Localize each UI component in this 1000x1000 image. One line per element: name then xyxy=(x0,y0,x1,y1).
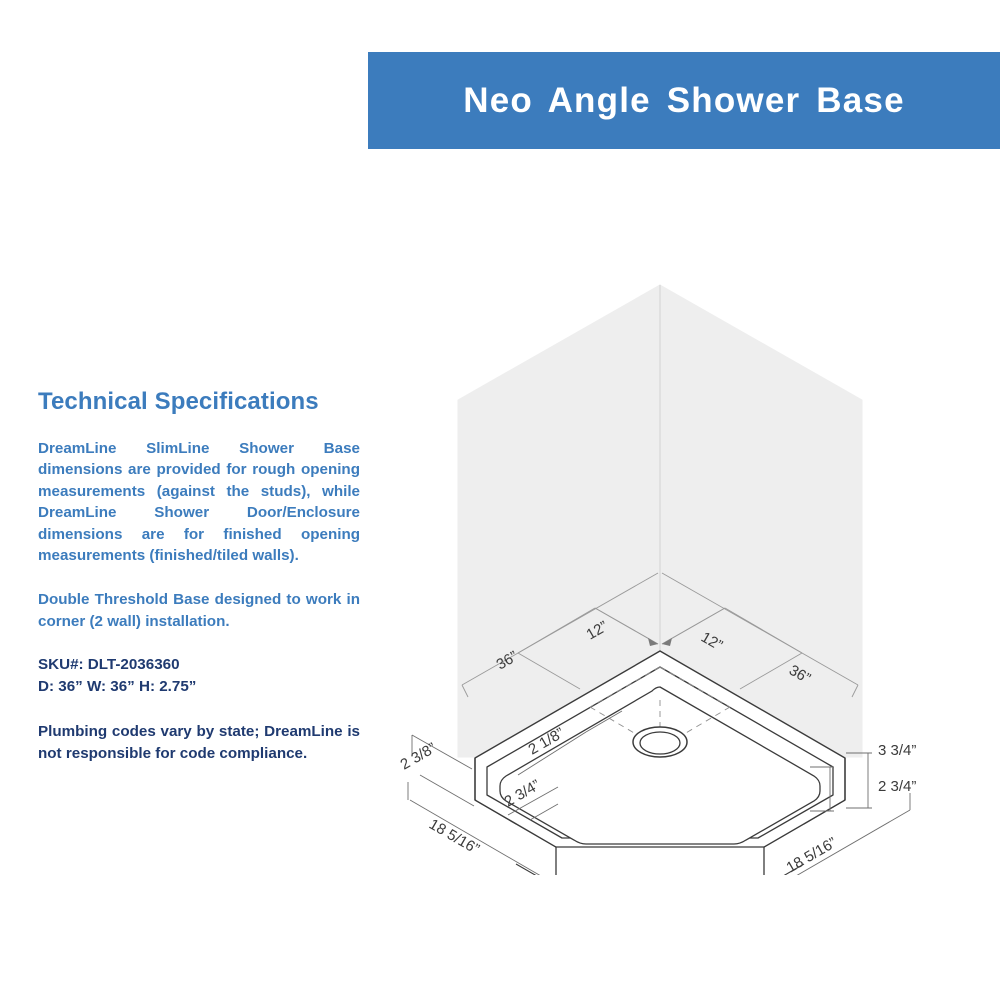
dimension-label-2-3-4-height: 2 3/4” xyxy=(878,778,916,795)
page-title: Neo Angle Shower Base xyxy=(463,81,905,121)
header-banner: Neo Angle Shower Base xyxy=(368,52,1000,149)
spec-paragraph-dimensions: DreamLine SlimLine Shower Base dimension… xyxy=(38,438,360,567)
sku-dimensions: D: 36” W: 36” H: 2.75” xyxy=(38,678,196,695)
label-threshold-left: 2 3/8” xyxy=(398,740,440,774)
dimension-label-18-5-16-right: 18 5/16” xyxy=(784,834,840,875)
label-front-right-run: 18 5/16” xyxy=(784,834,840,875)
spec-sku-block: SKU#: DLT-2036360 D: 36” W: 36” H: 2.75” xyxy=(38,654,360,697)
spec-paragraph-plumbing-codes: Plumbing codes vary by state; DreamLine … xyxy=(38,721,360,764)
technical-specifications-panel: Technical Specifications DreamLine SlimL… xyxy=(38,388,360,765)
spec-paragraph-threshold: Double Threshold Base designed to work i… xyxy=(38,589,360,632)
dimension-label-2-3-8: 2 3/8” xyxy=(398,740,440,774)
label-base-height-outer: 3 3/4” xyxy=(878,742,916,759)
label-base-height-inner: 2 3/4” xyxy=(878,778,916,795)
dimension-label-3-3-4: 3 3/4” xyxy=(878,742,916,759)
isometric-drawing: 36” 36” 12” 12” 2 3/8” 18 5/16” 18 5/16”… xyxy=(390,255,1000,875)
drain xyxy=(633,727,687,757)
spec-heading: Technical Specifications xyxy=(38,388,360,416)
sku-number: SKU#: DLT-2036360 xyxy=(38,656,180,673)
